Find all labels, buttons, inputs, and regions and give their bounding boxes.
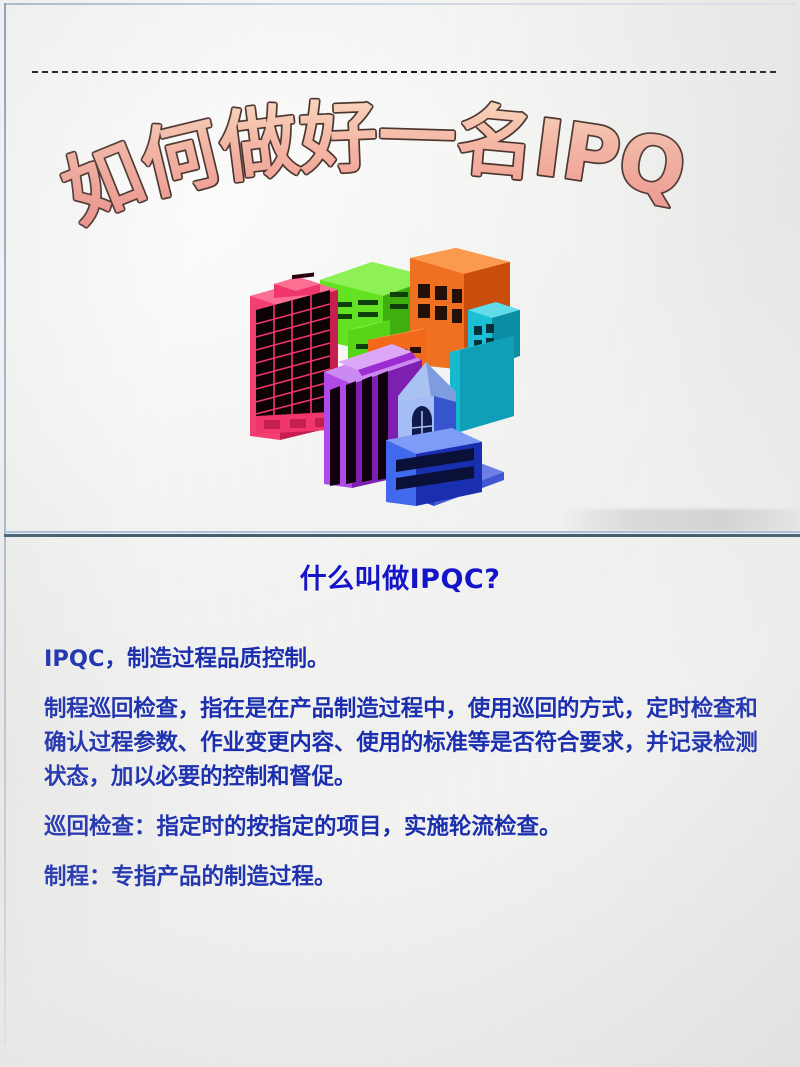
- body-copy: IPQC，制造过程品质控制。 制程巡回检查，指在是在产品制造过程中，使用巡回的方…: [0, 642, 800, 894]
- top-edge-rule: [4, 3, 796, 5]
- title-fill-text: 如何做好一名IPQC: [0, 88, 692, 238]
- paragraph-3: 巡回检查：指定时的按指定的项目，实施轮流检查。: [44, 810, 774, 844]
- solid-rule-highlight: [4, 531, 800, 533]
- solid-rule: [4, 534, 800, 537]
- slide-canvas: 如何做好一名IPQC 如何做好一名IPQC: [0, 0, 800, 1067]
- paragraph-4: 制程：专指产品的制造过程。: [44, 860, 774, 894]
- title-fill: 如何做好一名IPQC: [0, 88, 692, 238]
- watermark-band: [560, 509, 800, 531]
- section-heading: 什么叫做IPQC?: [0, 557, 800, 596]
- paragraph-2: 制程巡回检查，指在是在产品制造过程中，使用巡回的方式，定时检查和确认过程参数、作…: [44, 692, 774, 794]
- definition-section: 什么叫做IPQC? IPQC，制造过程品质控制。 制程巡回检查，指在是在产品制造…: [0, 545, 800, 894]
- dashed-rule: [32, 71, 776, 73]
- slide-title: 如何做好一名IPQC 如何做好一名IPQC: [0, 88, 800, 238]
- paragraph-1: IPQC，制造过程品质控制。: [44, 642, 774, 676]
- city-buildings-clipart: [220, 244, 550, 512]
